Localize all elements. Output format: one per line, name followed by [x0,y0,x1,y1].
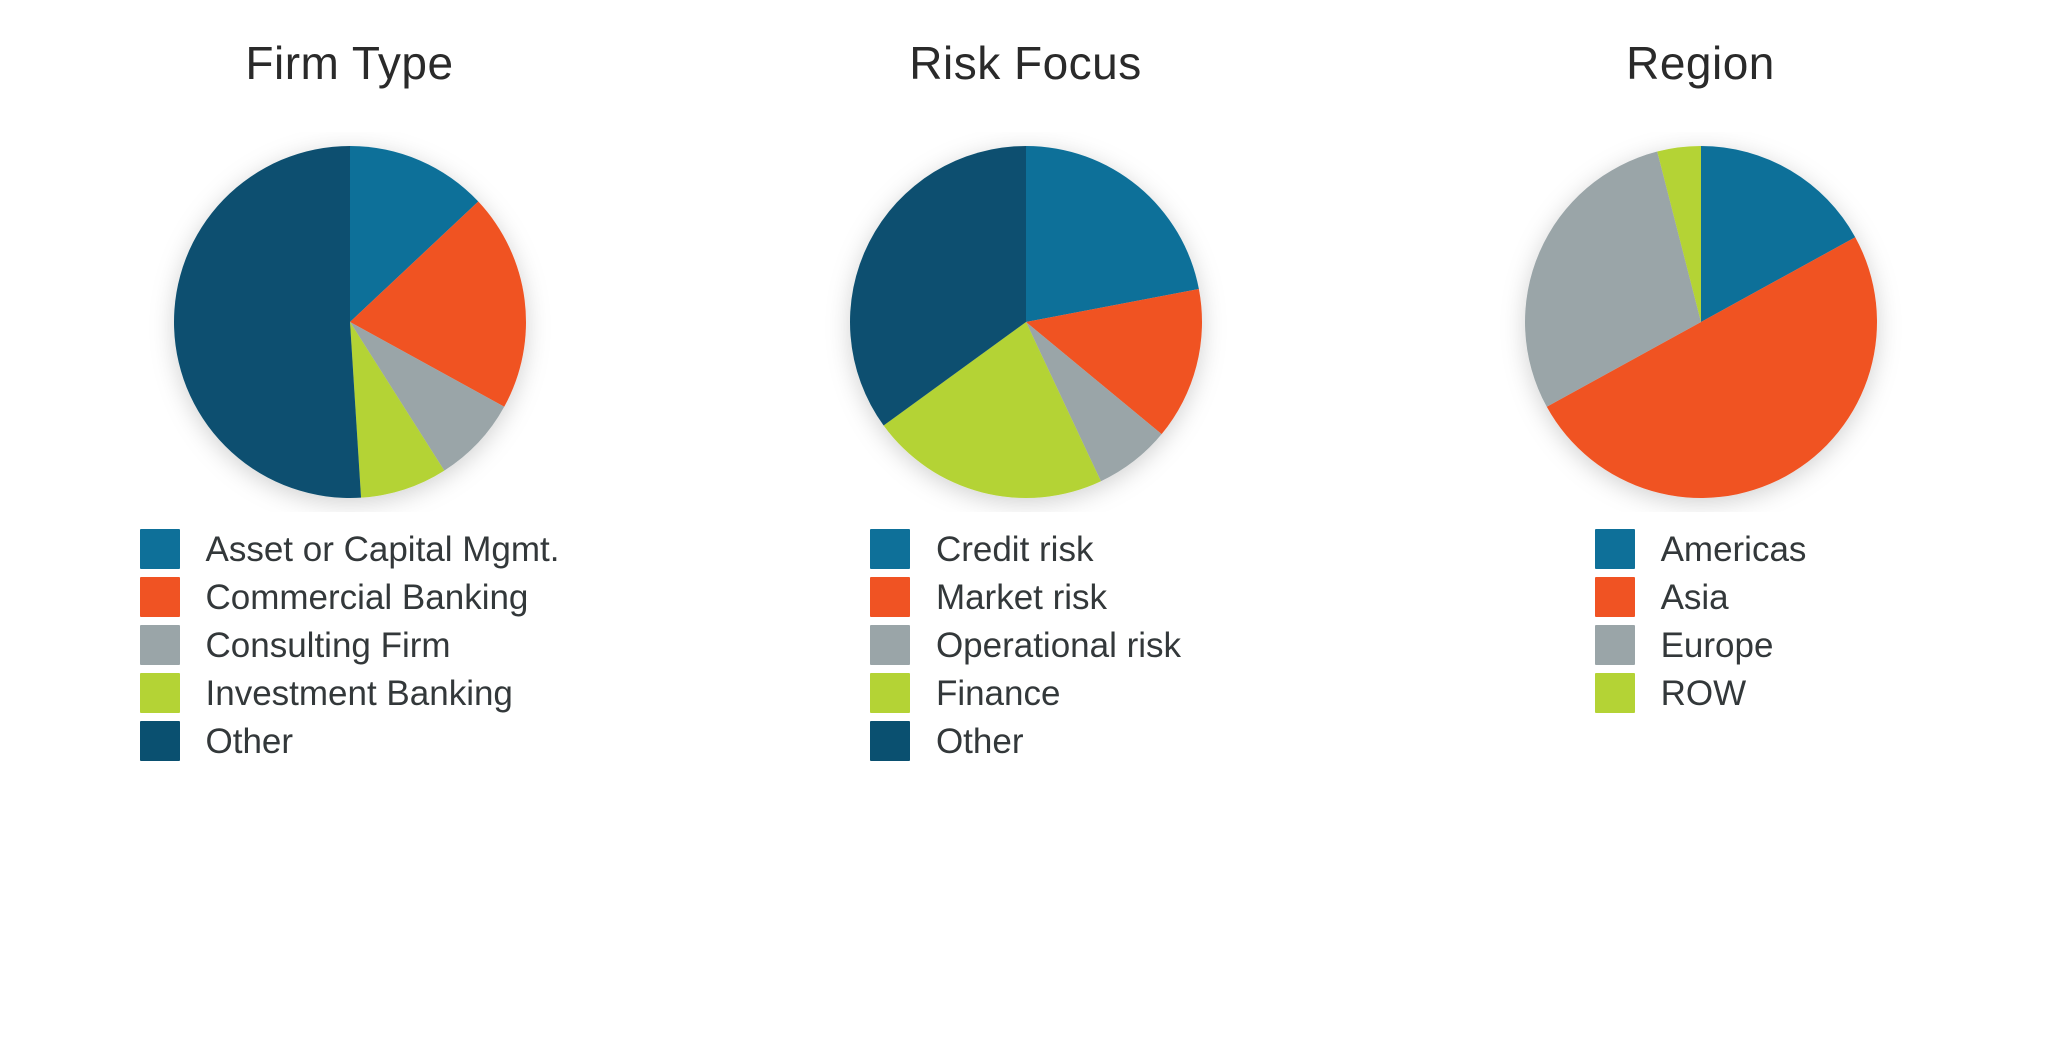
pie-chart-figure: Firm Type Asset or Capital Mgmt.: 13%Com… [0,0,2050,1064]
legend-region: AmericasAsiaEuropeROW [1359,525,2042,718]
legend-item[interactable]: Investment Banking [140,669,560,717]
legend-item-label: Other [936,724,1024,759]
legend-item[interactable]: Americas [1595,525,1807,573]
legend-swatch-icon [140,577,180,617]
legend-swatch-icon [870,673,910,713]
legend-risk-focus: Credit riskMarket riskOperational riskFi… [684,525,1367,766]
legend-item[interactable]: Commercial Banking [140,573,560,621]
legend-swatch-icon [870,577,910,617]
legend-swatch-icon [870,529,910,569]
legend-swatch-icon [1595,577,1635,617]
legend-item[interactable]: Market risk [870,573,1181,621]
chart-panel-region: Region Americas: 17%Asia: 50%Europe: 29%… [1359,0,2042,1064]
pie-svg-firm-type: Asset or Capital Mgmt.: 13%Commercial Ba… [130,132,570,512]
legend-firm-type: Asset or Capital Mgmt.Commercial Banking… [8,525,691,766]
legend-swatch-icon [140,721,180,761]
legend-item-label: Asset or Capital Mgmt. [206,532,560,567]
legend-swatch-icon [1595,625,1635,665]
chart-panel-firm-type: Firm Type Asset or Capital Mgmt.: 13%Com… [8,0,691,1064]
pie-slice[interactable]: Other: 51% [174,146,361,498]
legend-item[interactable]: Asset or Capital Mgmt. [140,525,560,573]
legend-item[interactable]: Other [140,717,560,765]
legend-item-label: ROW [1661,676,1747,711]
legend-item[interactable]: Consulting Firm [140,621,560,669]
page-title-risk-focus: Risk Focus [684,40,1367,86]
legend-swatch-icon [1595,673,1635,713]
pie-svg-region: Americas: 17%Asia: 50%Europe: 29%ROW: 4% [1481,132,1921,512]
pie-slices: Americas: 17%Asia: 50%Europe: 29%ROW: 4% [1525,146,1877,498]
legend-item-label: Market risk [936,580,1107,615]
pie-svg-risk-focus: Credit risk: 22%Market risk: 14%Operatio… [806,132,1246,512]
legend-item-label: Operational risk [936,628,1181,663]
legend-item-label: Finance [936,676,1061,711]
pie-chart-region: Americas: 17%Asia: 50%Europe: 29%ROW: 4% [1359,132,2042,512]
legend-item-label: Commercial Banking [206,580,529,615]
legend-item[interactable]: ROW [1595,669,1807,717]
legend-item-label: Consulting Firm [206,628,451,663]
legend-item[interactable]: Asia [1595,573,1807,621]
legend-item[interactable]: Credit risk [870,525,1181,573]
pie-slices: Asset or Capital Mgmt.: 13%Commercial Ba… [174,146,526,498]
page-title-firm-type: Firm Type [8,40,691,86]
legend-swatch-icon [1595,529,1635,569]
legend-item[interactable]: Other [870,717,1181,765]
pie-chart-firm-type: Asset or Capital Mgmt.: 13%Commercial Ba… [8,132,691,512]
legend-swatch-icon [140,673,180,713]
page-title-region: Region [1359,40,2042,86]
legend-item[interactable]: Operational risk [870,621,1181,669]
legend-swatch-icon [140,625,180,665]
legend-item-label: Credit risk [936,532,1094,567]
chart-panel-risk-focus: Risk Focus Credit risk: 22%Market risk: … [684,0,1367,1064]
legend-item-label: Americas [1661,532,1807,567]
legend-item-label: Europe [1661,628,1774,663]
legend-swatch-icon [140,529,180,569]
legend-swatch-icon [870,721,910,761]
pie-chart-risk-focus: Credit risk: 22%Market risk: 14%Operatio… [684,132,1367,512]
legend-item-label: Other [206,724,294,759]
pie-slices: Credit risk: 22%Market risk: 14%Operatio… [850,146,1202,498]
legend-item-label: Asia [1661,580,1729,615]
legend-item-label: Investment Banking [206,676,513,711]
legend-item[interactable]: Finance [870,669,1181,717]
legend-item[interactable]: Europe [1595,621,1807,669]
legend-swatch-icon [870,625,910,665]
